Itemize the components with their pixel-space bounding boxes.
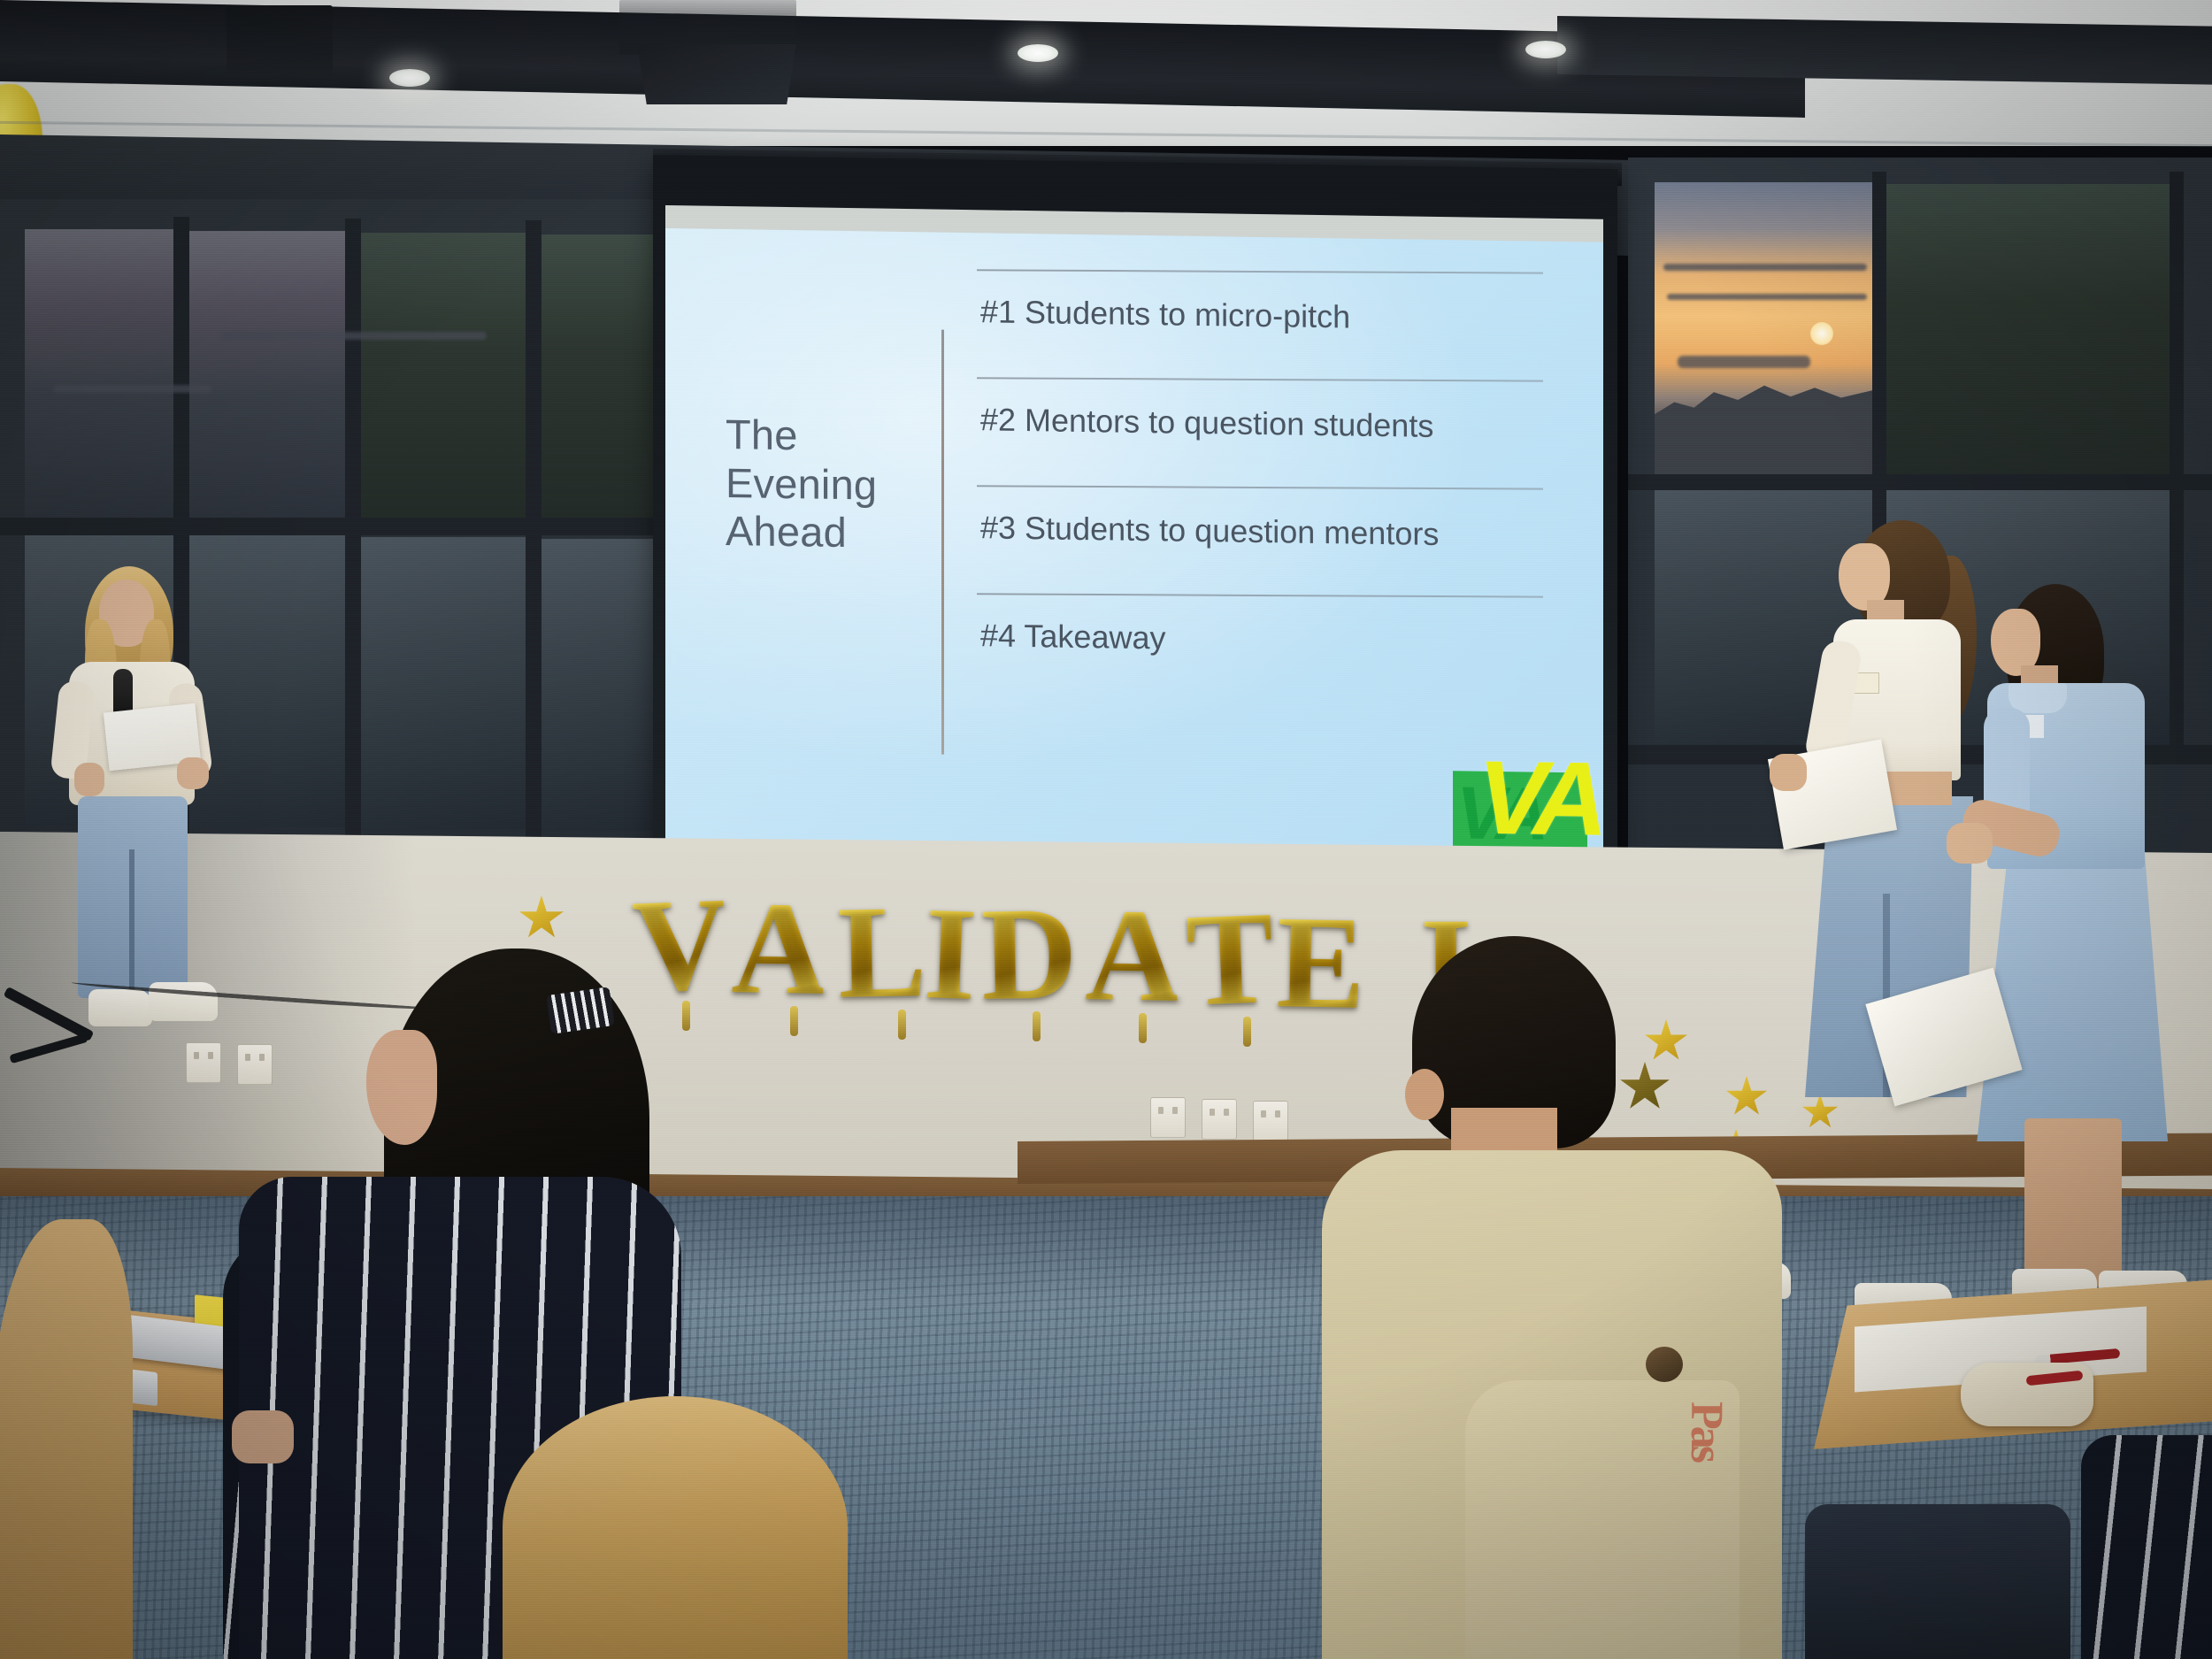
- balloon-letter: T: [1184, 891, 1273, 1026]
- student-hand: [1947, 823, 1993, 864]
- validate-it-logo: VA VA: [1444, 744, 1603, 856]
- slide-title-line: Ahead: [726, 507, 929, 558]
- hanging-projector-mount: [637, 44, 796, 104]
- balloon-tail: [682, 1001, 690, 1031]
- balloon-letter: V: [630, 877, 726, 1013]
- slide-agenda-list: #1 Students to micro-pitch #2 Mentors to…: [977, 266, 1568, 707]
- window-pane: [188, 231, 347, 523]
- window-pane: [188, 535, 347, 827]
- hill-silhouette: [1655, 364, 1874, 474]
- balloon-letter: A: [731, 881, 826, 1016]
- slide-vertical-divider: [941, 330, 944, 755]
- power-socket[interactable]: [186, 1042, 221, 1083]
- balloon-letter: D: [980, 887, 1075, 1021]
- window-pane: [540, 234, 664, 526]
- student-legs: [2024, 1118, 2122, 1286]
- slide-title: The Evening Ahead: [726, 411, 929, 558]
- agenda-item-label: #3 Students to question mentors: [980, 509, 1439, 553]
- sun-glow-icon: [1810, 322, 1833, 345]
- balloon-tail: [1139, 1013, 1147, 1043]
- audience-ear: [1405, 1069, 1444, 1120]
- cloud-streak: [1678, 356, 1810, 368]
- agenda-item: #4 Takeaway: [977, 590, 1568, 707]
- projector-screen-surface: The Evening Ahead #1 Students to micro-p…: [665, 205, 1603, 874]
- logo-front-text: VA: [1478, 757, 1601, 841]
- power-socket[interactable]: [1150, 1097, 1186, 1138]
- presentation-room-photo: The Evening Ahead #1 Students to micro-p…: [0, 0, 2212, 1659]
- balloon-letter: A: [1085, 888, 1179, 1023]
- cloud-streak: [221, 332, 487, 340]
- window-pane: [1881, 184, 2173, 476]
- ceiling-beam-right: [1557, 16, 2212, 85]
- balloon-letter: I: [922, 887, 975, 1021]
- sweatshirt-graphic: Pas: [1653, 1402, 1732, 1587]
- agenda-item: #3 Students to question mentors: [977, 482, 1568, 599]
- audience-blonde-left: [0, 1219, 133, 1659]
- window-pane: [359, 537, 527, 829]
- agenda-item-label: #1 Students to micro-pitch: [980, 293, 1350, 335]
- agenda-item-label: #2 Mentors to question students: [980, 401, 1433, 445]
- chair-striped: [2081, 1435, 2212, 1659]
- balloon-letter: L: [837, 885, 925, 1019]
- ceiling-speaker-icon: [227, 5, 333, 74]
- chair-back: [1805, 1504, 2070, 1659]
- chair-knob: [1646, 1347, 1683, 1382]
- student-hand: [1770, 754, 1807, 791]
- balloon-tail: [1033, 1011, 1041, 1041]
- agenda-item-label: #4 Takeaway: [980, 617, 1165, 657]
- balloon-tail: [790, 1006, 798, 1036]
- window-mullion: [2170, 172, 2184, 756]
- slide-title-line: Evening: [726, 459, 929, 511]
- downlight-icon: [1018, 44, 1058, 62]
- balloon-tail: [898, 1010, 906, 1040]
- presentation-slide: The Evening Ahead #1 Students to micro-p…: [665, 228, 1603, 856]
- audience-blonde-center: [503, 1396, 848, 1659]
- audience-hand: [232, 1410, 294, 1463]
- agenda-item: #2 Mentors to question students: [977, 374, 1568, 491]
- balloon-letter: E: [1276, 895, 1363, 1030]
- presenter-hand: [74, 763, 104, 796]
- power-socket[interactable]: [1253, 1101, 1288, 1141]
- power-socket[interactable]: [1202, 1099, 1237, 1140]
- window-pane-sunset: [1655, 182, 1874, 474]
- balloon-banner: V A L I D A T E I: [633, 872, 1517, 1075]
- presenter-hand: [177, 757, 209, 789]
- presenter-leg-seam: [129, 849, 134, 1000]
- presenter-shoe: [88, 989, 152, 1026]
- window-pane: [540, 539, 664, 831]
- slide-title-line: The: [726, 411, 929, 462]
- cloud-streak: [1663, 264, 1867, 271]
- agenda-rule: [977, 269, 1543, 273]
- agenda-item: #1 Students to micro-pitch: [977, 266, 1568, 383]
- window-transom: [0, 518, 672, 535]
- power-socket[interactable]: [237, 1044, 273, 1085]
- downlight-icon: [389, 69, 430, 87]
- cloud-streak: [53, 385, 212, 393]
- window-pane: [25, 229, 175, 521]
- window-pane: [359, 233, 527, 525]
- balloon-tail: [1243, 1017, 1251, 1047]
- downlight-icon: [1525, 41, 1566, 58]
- cloud-streak: [1667, 294, 1867, 300]
- window-transom: [1628, 474, 2212, 490]
